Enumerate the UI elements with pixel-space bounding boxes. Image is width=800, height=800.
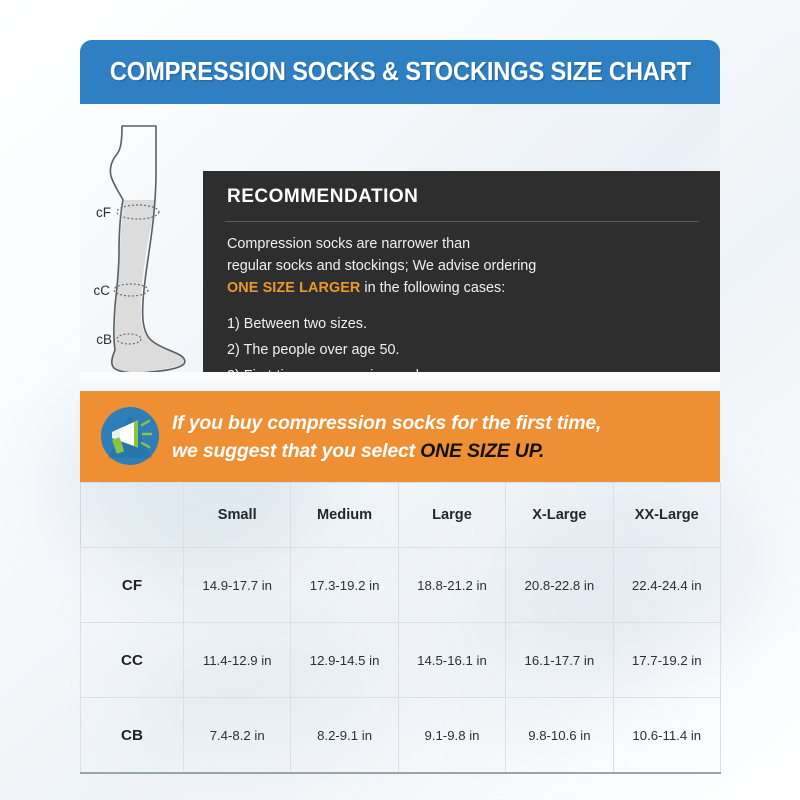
table-row: CF 14.9-17.7 in 17.3-19.2 in 18.8-21.2 i… bbox=[81, 548, 721, 623]
column-header-xx-large: XX-Large bbox=[613, 483, 720, 548]
cell-cb-small: 7.4-8.2 in bbox=[184, 698, 291, 774]
size-chart-page: COMPRESSION SOCKS & STOCKINGS SIZE CHART… bbox=[0, 0, 800, 800]
list-item: 2) The people over age 50. bbox=[227, 337, 705, 363]
table-corner-cell bbox=[81, 483, 184, 548]
cell-cb-xx-large: 10.6-11.4 in bbox=[613, 698, 720, 774]
page-title: COMPRESSION SOCKS & STOCKINGS SIZE CHART bbox=[109, 58, 690, 87]
cell-cb-large: 9.1-9.8 in bbox=[398, 698, 505, 774]
recommendation-title: RECOMMENDATION bbox=[227, 186, 418, 208]
stocking-fill bbox=[112, 200, 184, 373]
size-chart-table: Small Medium Large X-Large XX-Large CF 1… bbox=[80, 482, 721, 774]
cell-cf-large: 18.8-21.2 in bbox=[398, 548, 505, 623]
banner-line1: If you buy compression socks for the fir… bbox=[172, 412, 601, 434]
cell-cb-x-large: 9.8-10.6 in bbox=[506, 698, 613, 774]
column-header-small: Small bbox=[184, 483, 291, 548]
recommendation-highlight: ONE SIZE LARGER bbox=[227, 280, 360, 296]
banner-message: If you buy compression socks for the fir… bbox=[172, 409, 708, 465]
chart-title-bar: COMPRESSION SOCKS & STOCKINGS SIZE CHART bbox=[80, 40, 720, 104]
row-header-cf: CF bbox=[81, 548, 184, 623]
cb-label: cB bbox=[96, 332, 112, 347]
panel-separator bbox=[80, 372, 720, 391]
cell-cf-medium: 17.3-19.2 in bbox=[291, 548, 398, 623]
cell-cc-large: 14.5-16.1 in bbox=[398, 623, 505, 698]
cell-cc-xx-large: 17.7-19.2 in bbox=[613, 623, 720, 698]
cf-label: cF bbox=[96, 205, 111, 220]
cell-cf-xx-large: 22.4-24.4 in bbox=[613, 548, 720, 623]
list-item: 1) Between two sizes. bbox=[227, 311, 705, 337]
banner-line2-lead: we suggest that you select bbox=[172, 440, 420, 462]
leg-diagram-svg: cF cC cB bbox=[86, 112, 211, 377]
cell-cf-small: 14.9-17.7 in bbox=[184, 548, 291, 623]
recommendation-body: Compression socks are narrower than regu… bbox=[227, 233, 705, 299]
recommendation-divider bbox=[225, 221, 699, 222]
column-header-x-large: X-Large bbox=[506, 483, 613, 548]
recommendation-body-line3-tail: in the following cases: bbox=[360, 280, 505, 296]
table-row: CC 11.4-12.9 in 12.9-14.5 in 14.5-16.1 i… bbox=[81, 623, 721, 698]
cc-label: cC bbox=[94, 283, 111, 298]
leg-measurement-diagram: cF cC cB bbox=[86, 112, 211, 377]
banner-line2-emphasis: ONE SIZE UP. bbox=[420, 440, 544, 462]
cell-cf-x-large: 20.8-22.8 in bbox=[506, 548, 613, 623]
size-chart-card: COMPRESSION SOCKS & STOCKINGS SIZE CHART… bbox=[80, 40, 720, 772]
row-header-cc: CC bbox=[81, 623, 184, 698]
recommendation-panel: cF cC cB RECOMMENDATION Compression sock… bbox=[80, 104, 720, 391]
table-header-row: Small Medium Large X-Large XX-Large bbox=[81, 483, 721, 548]
recommendation-body-line1: Compression socks are narrower than bbox=[227, 236, 470, 252]
cell-cc-medium: 12.9-14.5 in bbox=[291, 623, 398, 698]
recommendation-body-line2: regular socks and stockings; We advise o… bbox=[227, 258, 536, 274]
cell-cb-medium: 8.2-9.1 in bbox=[291, 698, 398, 774]
cell-cc-small: 11.4-12.9 in bbox=[184, 623, 291, 698]
first-time-buyer-banner: If you buy compression socks for the fir… bbox=[80, 391, 720, 482]
column-header-large: Large bbox=[398, 483, 505, 548]
table-row: CB 7.4-8.2 in 8.2-9.1 in 9.1-9.8 in 9.8-… bbox=[81, 698, 721, 774]
cell-cc-x-large: 16.1-17.7 in bbox=[506, 623, 613, 698]
megaphone-icon bbox=[100, 406, 160, 466]
column-header-medium: Medium bbox=[291, 483, 398, 548]
row-header-cb: CB bbox=[81, 698, 184, 774]
